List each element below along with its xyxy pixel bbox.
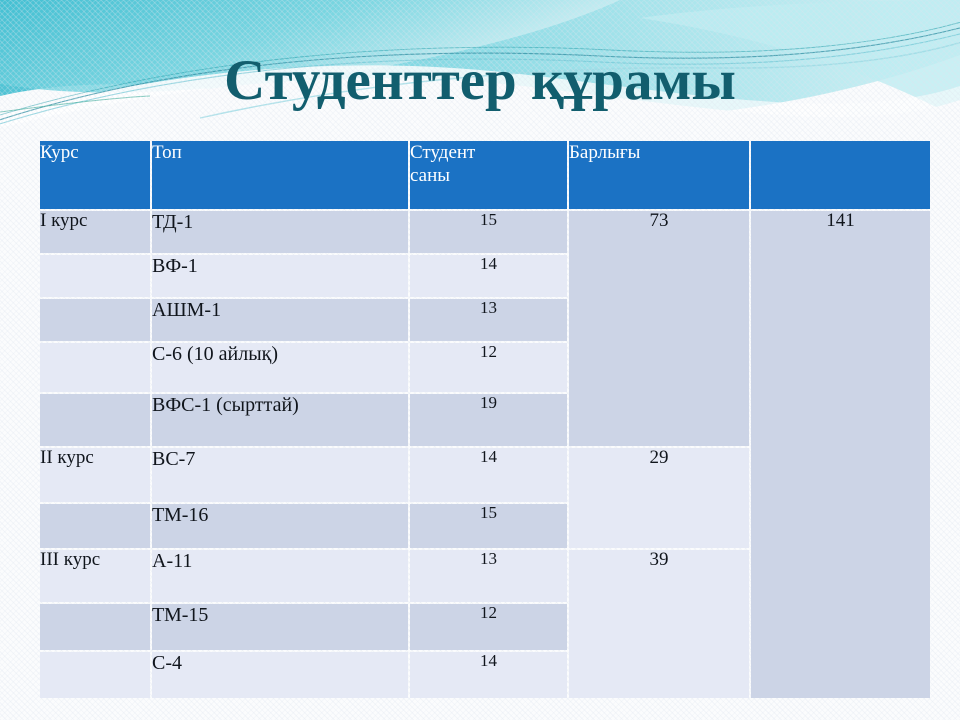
cell-course: II курс [40,448,150,502]
page-title: Студенттер құрамы [0,52,960,109]
cell-group: ВС-7 [152,448,408,502]
cell-grand-total: 141 [751,211,930,698]
cell-count: 12 [410,343,567,392]
cell-count: 15 [410,504,567,548]
cell-subtotal: 39 [569,550,749,698]
cell-count: 19 [410,394,567,446]
cell-group: А-11 [152,550,408,602]
cell-subtotal: 73 [569,211,749,446]
students-composition-table-wrapper: Курс Топ Студент саны Барлығы I курс ТД-… [38,139,924,700]
cell-course [40,604,150,650]
cell-group: ВФС-1 (сырттай) [152,394,408,446]
cell-subtotal: 29 [569,448,749,548]
cell-count: 13 [410,299,567,341]
cell-count: 12 [410,604,567,650]
cell-course [40,504,150,548]
cell-course [40,394,150,446]
cell-course [40,652,150,698]
cell-count: 14 [410,448,567,502]
cell-count: 14 [410,255,567,297]
column-header-subtotal: Барлығы [569,141,749,209]
cell-count: 14 [410,652,567,698]
cell-course: I курс [40,211,150,253]
table-header-row: Курс Топ Студент саны Барлығы [40,141,930,209]
cell-course [40,343,150,392]
column-header-student-count-line1: Студент [410,142,475,163]
table-row: I курс ТД-1 15 73 141 [40,211,930,253]
column-header-student-count: Студент саны [410,141,567,209]
column-header-grand-total [751,141,930,209]
table-body: I курс ТД-1 15 73 141 ВФ-1 14 АШМ-1 13 [40,211,930,698]
cell-count: 15 [410,211,567,253]
cell-course: III курс [40,550,150,602]
cell-group: ТД-1 [152,211,408,253]
column-header-course: Курс [40,141,150,209]
cell-group: ВФ-1 [152,255,408,297]
cell-group: С-4 [152,652,408,698]
cell-group: АШМ-1 [152,299,408,341]
column-header-student-count-line2: саны [410,165,450,186]
column-header-group: Топ [152,141,408,209]
cell-course [40,255,150,297]
cell-group: ТМ-15 [152,604,408,650]
cell-group: ТМ-16 [152,504,408,548]
cell-count: 13 [410,550,567,602]
cell-group: С-6 (10 айлық) [152,343,408,392]
cell-course [40,299,150,341]
students-composition-table: Курс Топ Студент саны Барлығы I курс ТД-… [38,139,932,700]
